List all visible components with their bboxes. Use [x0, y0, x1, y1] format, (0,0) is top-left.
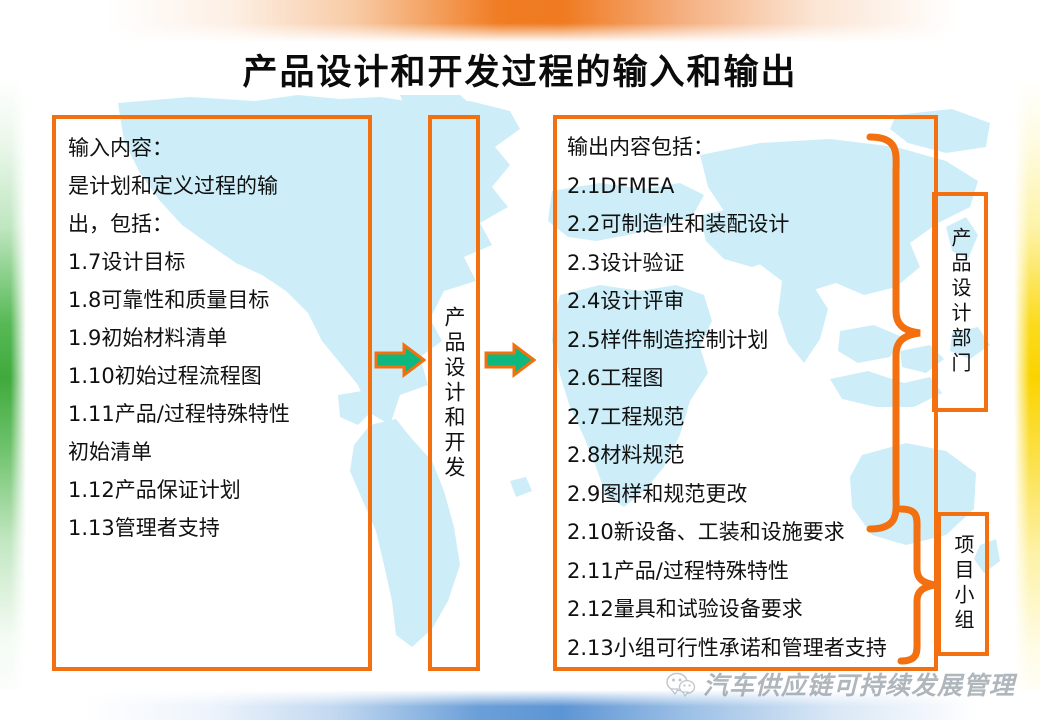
output-line: 输出内容包括： — [567, 128, 887, 167]
input-line: 1.7设计目标 — [68, 243, 290, 281]
input-line: 输入内容： — [68, 129, 290, 167]
right-gradient-band — [1014, 36, 1040, 720]
input-content-list: 输入内容： 是计划和定义过程的输 出，包括： 1.7设计目标 1.8可靠性和质量… — [56, 119, 290, 547]
owner-box-project-team: 项目小组 — [937, 512, 989, 656]
arrow-process-to-output-icon — [484, 342, 536, 378]
output-line: 2.4设计评审 — [567, 282, 887, 321]
process-box: 产品设计和开发 — [428, 115, 480, 671]
owner-box-product-design-dept: 产品设计部门 — [932, 192, 988, 412]
left-gradient-fade — [0, 36, 26, 720]
input-line: 出，包括： — [68, 205, 290, 243]
top-gradient-band — [0, 0, 1040, 42]
output-content-list: 输出内容包括： 2.1DFMEA 2.2可制造性和装配设计 2.3设计验证 2.… — [557, 119, 887, 667]
output-line: 2.6工程图 — [567, 359, 887, 398]
output-line: 2.12量具和试验设备要求 — [567, 590, 887, 629]
output-line: 2.5样件制造控制计划 — [567, 321, 887, 360]
watermark-text: 汽车供应链可持续发展管理 — [703, 666, 1015, 702]
input-line: 初始清单 — [68, 433, 290, 471]
input-line: 1.8可靠性和质量目标 — [68, 281, 290, 319]
watermark: 汽车供应链可持续发展管理 — [666, 660, 1026, 708]
right-gradient-fade — [1014, 36, 1040, 720]
owner-box-label: 产品设计部门 — [936, 196, 984, 408]
output-line: 2.11产品/过程特殊特性 — [567, 552, 887, 591]
brace-product-design-dept — [862, 133, 936, 533]
slide-title: 产品设计和开发过程的输入和输出 — [0, 44, 1040, 95]
left-gradient-band — [0, 36, 26, 720]
output-line: 2.2可制造性和装配设计 — [567, 205, 887, 244]
process-box-label: 产品设计和开发 — [432, 119, 476, 667]
output-line: 2.7工程规范 — [567, 398, 887, 437]
input-line: 1.11产品/过程特殊特性 — [68, 395, 290, 433]
input-line: 1.12产品保证计划 — [68, 471, 290, 509]
input-line: 1.10初始过程流程图 — [68, 357, 290, 395]
output-line: 2.1DFMEA — [567, 167, 887, 206]
output-line: 2.9图样和规范更改 — [567, 475, 887, 514]
arrow-input-to-process-icon — [374, 342, 426, 378]
brace-project-team — [893, 505, 943, 665]
input-line: 是计划和定义过程的输 — [68, 167, 290, 205]
output-line: 2.8材料规范 — [567, 436, 887, 475]
wechat-icon — [666, 671, 696, 697]
slide-canvas: 产品设计和开发过程的输入和输出 输入内容： 是计划和定义过程的输 出，包括： 1… — [0, 0, 1040, 720]
output-line: 2.3设计验证 — [567, 244, 887, 283]
top-gradient-fade — [0, 0, 1040, 42]
owner-box-label: 项目小组 — [941, 516, 985, 652]
input-line: 1.13管理者支持 — [68, 509, 290, 547]
output-line: 2.10新设备、工装和设施要求 — [567, 513, 887, 552]
input-content-box: 输入内容： 是计划和定义过程的输 出，包括： 1.7设计目标 1.8可靠性和质量… — [52, 115, 372, 671]
input-line: 1.9初始材料清单 — [68, 319, 290, 357]
